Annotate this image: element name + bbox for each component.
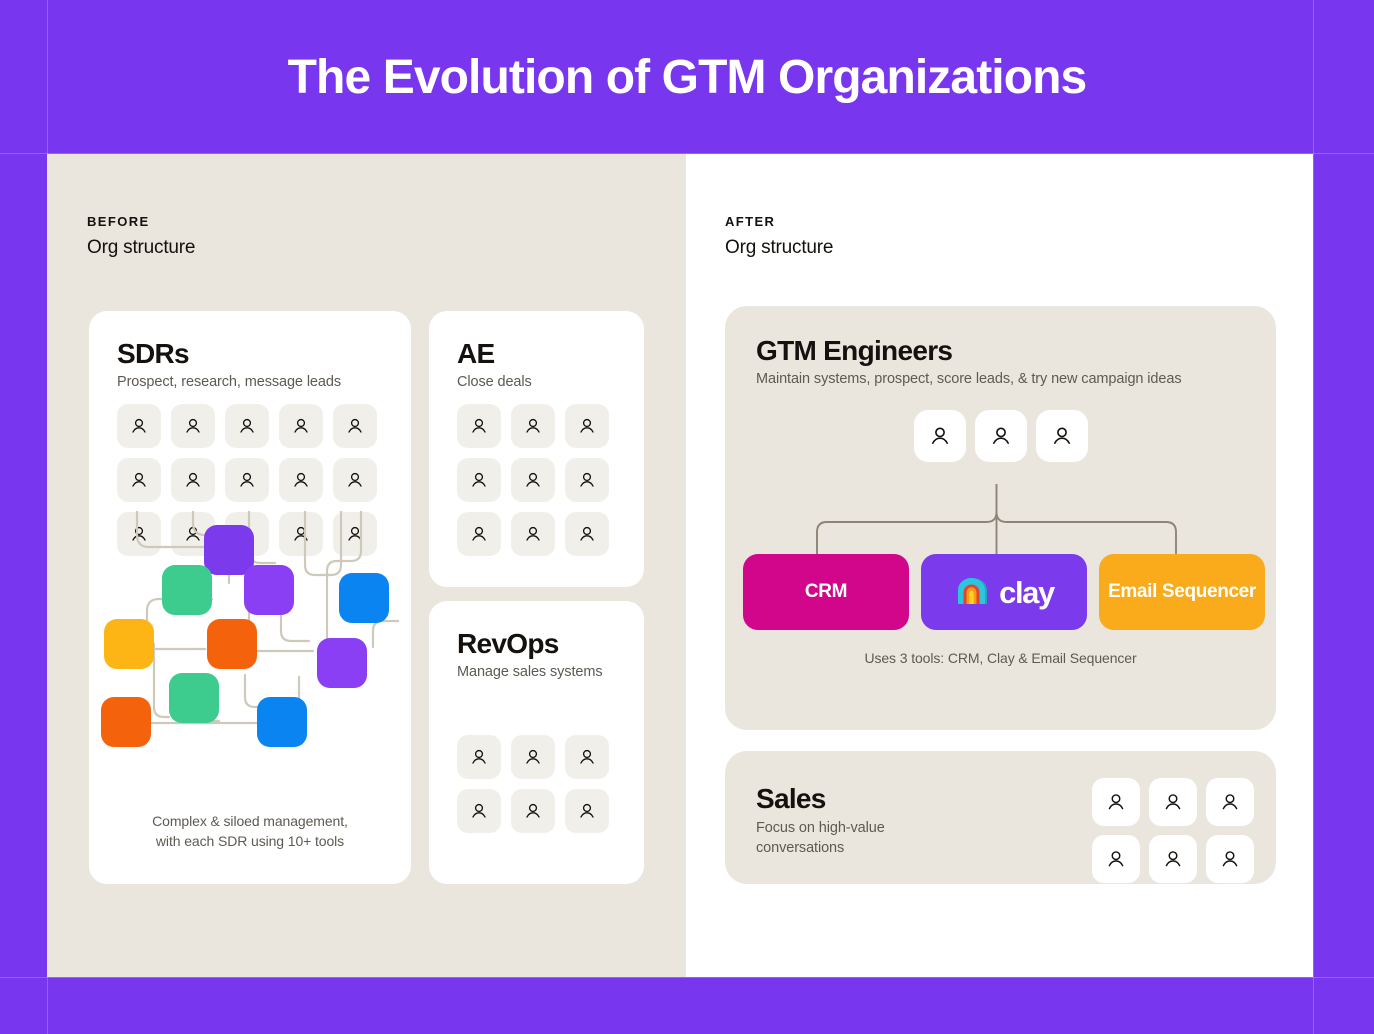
frame-gridline-right — [1313, 0, 1314, 1034]
card-sales-title: Sales — [756, 784, 885, 813]
person-tile — [171, 404, 215, 448]
card-gtm-subtitle: Maintain systems, prospect, score leads,… — [756, 371, 1181, 387]
person-tile — [1206, 835, 1254, 883]
after-eyebrow: AFTER — [725, 214, 833, 229]
person-tile — [279, 458, 323, 502]
card-gtm-engineers[interactable]: GTM Engineers Maintain systems, prospect… — [725, 306, 1276, 730]
person-tile — [1092, 835, 1140, 883]
person-tile — [1092, 778, 1140, 826]
card-revops[interactable]: RevOps Manage sales systems — [429, 601, 644, 884]
gtm-uses-note: Uses 3 tools: CRM, Clay & Email Sequence… — [725, 650, 1276, 666]
tool-button-clay[interactable]: clay — [921, 554, 1087, 630]
person-tile — [565, 458, 609, 502]
after-header: AFTER Org structure — [725, 214, 833, 259]
sales-people-grid — [1092, 778, 1254, 883]
card-gtm-title: GTM Engineers — [756, 336, 1181, 365]
tool-purple-2 — [244, 565, 294, 615]
clay-lockup: clay — [954, 575, 1054, 609]
page-title: The Evolution of GTM Organizations — [0, 0, 1374, 154]
person-tile — [1149, 835, 1197, 883]
tool-button-crm[interactable]: CRM — [743, 554, 909, 630]
tool-green-2 — [169, 673, 219, 723]
tool-orange-2 — [101, 697, 151, 747]
gtm-tool-buttons: CRMclayEmail Sequencer — [725, 554, 1276, 630]
person-tile — [511, 404, 555, 448]
tool-orange-1 — [207, 619, 257, 669]
tool-green-1 — [162, 565, 212, 615]
card-ae-title: AE — [457, 339, 532, 368]
person-tile — [565, 789, 609, 833]
after-panel: AFTER Org structure GTM Engineers Mainta… — [686, 154, 1313, 977]
person-tile — [511, 512, 555, 556]
person-tile — [565, 512, 609, 556]
person-tile — [975, 410, 1027, 462]
card-revops-title: RevOps — [457, 629, 602, 658]
clay-logo-icon — [954, 575, 992, 609]
person-tile — [914, 410, 966, 462]
revops-people-grid — [457, 735, 609, 833]
person-tile — [511, 458, 555, 502]
sales-subtitle-line2: conversations — [756, 840, 844, 856]
card-sdrs-title: SDRs — [117, 339, 341, 368]
person-tile — [457, 735, 501, 779]
ae-people-grid — [457, 404, 609, 556]
card-sales-subtitle: Focus on high-value conversations — [756, 819, 885, 858]
clay-wordmark: clay — [999, 577, 1054, 608]
person-tile — [511, 789, 555, 833]
person-tile — [565, 404, 609, 448]
sdrs-caption-line2: with each SDR using 10+ tools — [156, 833, 344, 849]
person-tile — [457, 404, 501, 448]
tool-button-email-sequencer[interactable]: Email Sequencer — [1099, 554, 1265, 630]
person-tile — [225, 458, 269, 502]
sdrs-tool-squares — [99, 511, 399, 761]
tool-blue-2 — [257, 697, 307, 747]
tool-blue-1 — [339, 573, 389, 623]
person-tile — [279, 404, 323, 448]
after-subhead: Org structure — [725, 237, 833, 259]
person-tile — [1149, 778, 1197, 826]
person-tile — [225, 404, 269, 448]
gtm-people-grid — [914, 410, 1088, 462]
person-tile — [1036, 410, 1088, 462]
frame-gridline-bottom — [0, 977, 1374, 978]
before-panel: BEFORE Org structure SDRs Prospect, rese… — [47, 154, 686, 977]
card-sdrs-subtitle: Prospect, research, message leads — [117, 374, 341, 390]
tool-purple-1 — [204, 525, 254, 575]
person-tile — [333, 404, 377, 448]
card-sales[interactable]: Sales Focus on high-value conversations — [725, 751, 1276, 884]
tool-purple-3 — [317, 638, 367, 688]
card-ae[interactable]: AE Close deals — [429, 311, 644, 587]
before-header: BEFORE Org structure — [87, 214, 195, 259]
person-tile — [457, 512, 501, 556]
tool-yellow-1 — [104, 619, 154, 669]
person-tile — [117, 458, 161, 502]
before-eyebrow: BEFORE — [87, 214, 195, 229]
before-subhead: Org structure — [87, 237, 195, 259]
person-tile — [333, 458, 377, 502]
infographic-root: The Evolution of GTM Organizations BEFOR… — [0, 0, 1374, 1034]
card-ae-subtitle: Close deals — [457, 374, 532, 390]
person-tile — [565, 735, 609, 779]
person-tile — [117, 404, 161, 448]
card-sdrs[interactable]: SDRs Prospect, research, message leads — [89, 311, 411, 884]
person-tile — [171, 458, 215, 502]
person-tile — [457, 458, 501, 502]
tool-button-label: Email Sequencer — [1108, 581, 1256, 603]
person-tile — [511, 735, 555, 779]
sdrs-caption-line1: Complex & siloed management, — [152, 813, 348, 829]
sdrs-tool-network — [99, 511, 399, 761]
tool-button-label: CRM — [805, 581, 847, 603]
person-tile — [1206, 778, 1254, 826]
person-tile — [457, 789, 501, 833]
sdrs-caption: Complex & siloed management, with each S… — [89, 811, 411, 852]
sales-subtitle-line1: Focus on high-value — [756, 820, 885, 836]
card-revops-subtitle: Manage sales systems — [457, 664, 602, 680]
